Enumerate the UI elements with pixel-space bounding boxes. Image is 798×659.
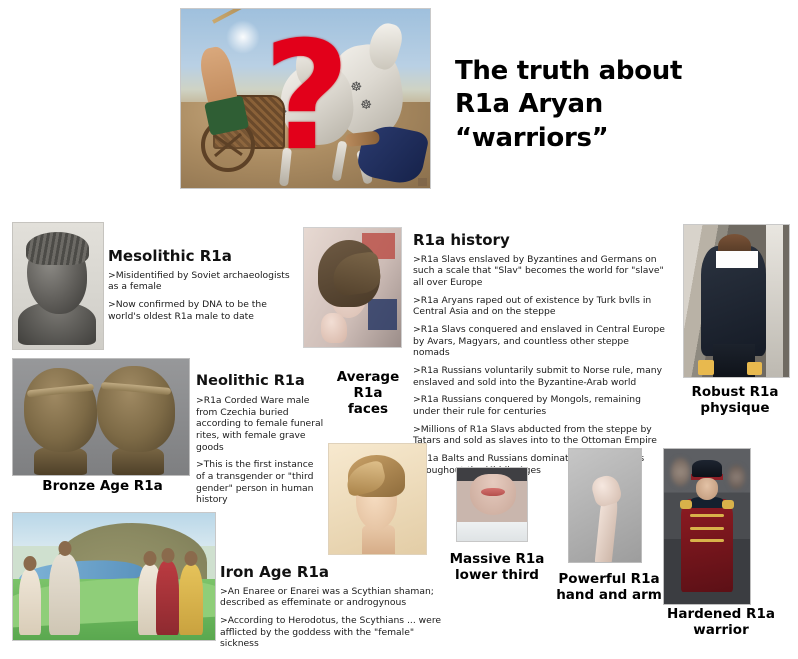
neolithic-title: Neolithic R1a bbox=[196, 374, 324, 390]
average-face-photo-2 bbox=[328, 443, 427, 555]
mirror-edge bbox=[766, 225, 783, 377]
painting-figure-5 bbox=[179, 564, 203, 635]
painting-figure-4-head bbox=[161, 548, 174, 563]
emo-hand bbox=[321, 313, 346, 344]
white-shirt bbox=[457, 522, 527, 541]
section-history: R1a history >R1a Slavs enslaved by Byzan… bbox=[413, 232, 665, 477]
massive-caption-line-1: Massive R1a bbox=[442, 552, 552, 568]
iron-age-title: Iron Age R1a bbox=[220, 564, 450, 581]
history-bullet-2: >R1a Aryans raped out of existence by Tu… bbox=[413, 295, 665, 318]
hardened-caption-line-2: warrior bbox=[655, 623, 787, 639]
background-person-left bbox=[671, 458, 690, 486]
chariot-illustration-image: ☸ ☸ ☸ ☸ ? bbox=[180, 8, 431, 189]
robust-caption-line-2: physique bbox=[672, 401, 798, 417]
headline-line-1: The truth about bbox=[455, 55, 785, 88]
history-bullet-3: >R1a Slavs conquered and enslaved in Cen… bbox=[413, 324, 665, 359]
painting-figure-2 bbox=[49, 554, 79, 635]
officer-cap bbox=[692, 460, 721, 477]
charioteer-figure bbox=[197, 44, 239, 110]
average-caption-line-2: R1a bbox=[325, 386, 411, 402]
fallen-enemy-arm bbox=[345, 131, 380, 147]
officer-braid-2 bbox=[690, 527, 724, 530]
average-caption-line-3: faces bbox=[325, 402, 411, 418]
officer-tunic bbox=[681, 499, 733, 592]
swastika-marking-1: ☸ bbox=[350, 81, 363, 94]
sun-glow bbox=[226, 20, 260, 54]
history-bullet-4: >R1a Russians voluntarily submit to Nors… bbox=[413, 365, 665, 388]
history-bullet-1: >R1a Slavs enslaved by Byzantines and Ge… bbox=[413, 254, 665, 289]
iron-age-bullet-1: >An Enaree or Enarei was a Scythian sham… bbox=[220, 586, 450, 609]
mesolithic-title: Mesolithic R1a bbox=[108, 248, 298, 265]
powerful-caption-line-1: Powerful R1a bbox=[554, 572, 664, 588]
average-face-photo-1 bbox=[303, 227, 402, 348]
background-person-right bbox=[728, 465, 745, 490]
painting-figure-1-head bbox=[24, 556, 37, 571]
lower-third-image bbox=[456, 467, 528, 542]
bronze-age-caption: Bronze Age R1a bbox=[20, 479, 185, 495]
hand-and-arm-image bbox=[568, 448, 642, 563]
mesolithic-bullet-1: >Misidentified by Soviet archaeologists … bbox=[108, 270, 298, 293]
painting-figure-3-head bbox=[144, 551, 157, 566]
yellow-bag-right bbox=[747, 362, 762, 376]
bronze-caption-text: Bronze Age R1a bbox=[20, 479, 185, 495]
average-caption-line-1: Average bbox=[325, 370, 411, 386]
recon-head-left bbox=[24, 368, 98, 452]
neolithic-bullets: >R1a Corded Ware male from Czechia burie… bbox=[196, 395, 324, 506]
robust-physique-image bbox=[683, 224, 790, 378]
face-censor-bar bbox=[716, 251, 758, 268]
robust-caption-line-1: Robust R1a bbox=[672, 385, 798, 401]
hand-and-arm-caption: Powerful R1a hand and arm bbox=[554, 572, 664, 604]
hardened-warrior-image bbox=[663, 448, 751, 605]
section-neolithic: Neolithic R1a >R1a Corded Ware male from… bbox=[196, 374, 324, 506]
hardened-warrior-caption: Hardened R1a warrior bbox=[655, 607, 787, 639]
iron-age-bullets: >An Enaree or Enarei was a Scythian sham… bbox=[220, 586, 450, 650]
mesolithic-bust-image bbox=[12, 222, 104, 350]
officer-braid-1 bbox=[690, 514, 724, 517]
yellow-bag-left bbox=[698, 360, 715, 375]
emo-blue-object bbox=[368, 299, 397, 330]
painting-figure-1 bbox=[19, 569, 41, 635]
powerful-caption-line-2: hand and arm bbox=[554, 588, 664, 604]
officer-epaulette-left bbox=[680, 500, 692, 509]
mesolithic-bullets: >Misidentified by Soviet archaeologists … bbox=[108, 270, 298, 323]
hardened-caption-line-1: Hardened R1a bbox=[655, 607, 787, 623]
officer-epaulette-right bbox=[722, 500, 734, 509]
history-bullets: >R1a Slavs enslaved by Byzantines and Ge… bbox=[413, 254, 665, 477]
neolithic-bullet-2: >This is the first instance of a transge… bbox=[196, 459, 324, 506]
infographic-canvas: ☸ ☸ ☸ ☸ ? The truth about R1a Aryan “war… bbox=[0, 0, 798, 659]
massive-caption-line-2: lower third bbox=[442, 568, 552, 584]
section-iron-age: Iron Age R1a >An Enaree or Enarei was a … bbox=[220, 564, 450, 650]
headline-line-3: “warriors” bbox=[455, 122, 785, 155]
bust-hair bbox=[26, 232, 89, 265]
history-bullet-6: >Millions of R1a Slavs abducted from the… bbox=[413, 424, 665, 447]
robust-physique-caption: Robust R1a physique bbox=[672, 385, 798, 417]
swastika-marking-2: ☸ bbox=[360, 99, 373, 112]
iron-age-bullet-2: >According to Herodotus, the Scythians .… bbox=[220, 615, 450, 650]
page-title: The truth about R1a Aryan “warriors” bbox=[455, 55, 785, 155]
neolithic-bullet-1: >R1a Corded Ware male from Czechia burie… bbox=[196, 395, 324, 453]
bronze-age-reconstruction-image bbox=[12, 358, 190, 476]
recon-head-right bbox=[97, 366, 174, 452]
painting-figure-5-head bbox=[184, 551, 197, 566]
iron-age-painting-image bbox=[12, 512, 216, 641]
image-corner-watermark bbox=[418, 178, 427, 186]
painting-figure-4 bbox=[156, 561, 178, 635]
painting-figure-2-head bbox=[58, 541, 71, 556]
average-faces-caption: Average R1a faces bbox=[325, 370, 411, 418]
history-bullet-5: >R1a Russians conquered by Mongols, rema… bbox=[413, 394, 665, 417]
section-mesolithic: Mesolithic R1a >Misidentified by Soviet … bbox=[108, 248, 298, 322]
question-mark-overlay: ? bbox=[263, 39, 350, 156]
mesolithic-bullet-2: >Now confirmed by DNA to be the world's … bbox=[108, 299, 298, 322]
officer-braid-3 bbox=[690, 539, 724, 542]
history-title: R1a history bbox=[413, 232, 665, 249]
headline-line-2: R1a Aryan bbox=[455, 88, 785, 121]
lower-third-caption: Massive R1a lower third bbox=[442, 552, 552, 584]
